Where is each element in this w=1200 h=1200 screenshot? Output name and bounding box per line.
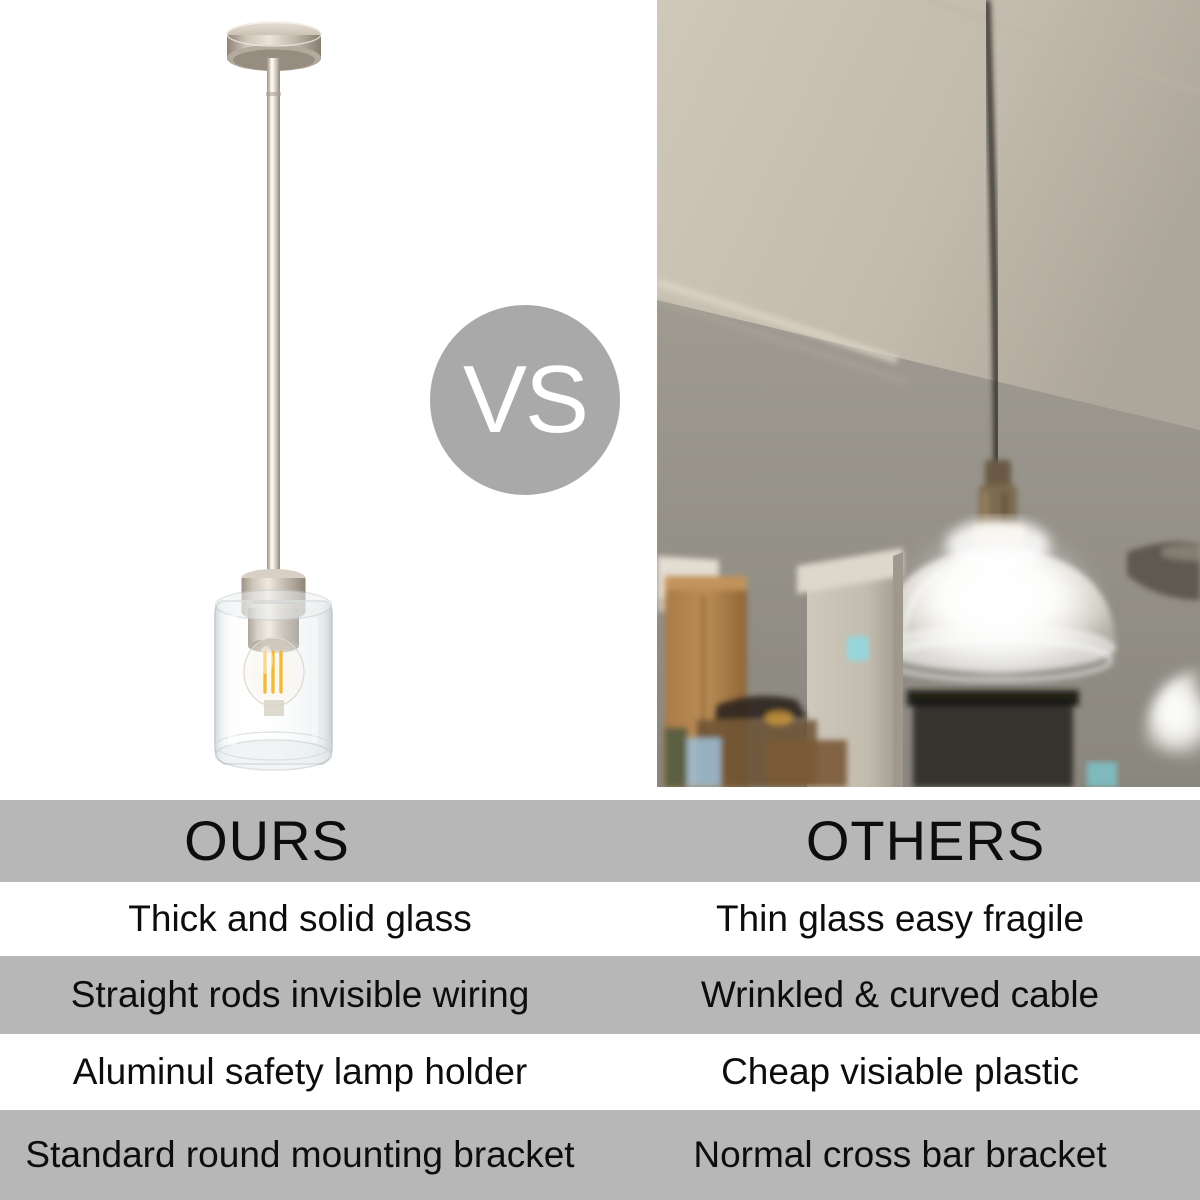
table-row: Straight rods invisible wiring Wrinkled … <box>0 956 1200 1034</box>
down-rod <box>266 58 281 578</box>
cell-ours-2: Straight rods invisible wiring <box>0 956 600 1034</box>
vs-badge: VS <box>430 305 620 495</box>
teal-light-reflection-2 <box>1087 762 1117 787</box>
cell-others-3: Cheap visiable plastic <box>600 1034 1200 1110</box>
header-ours: OURS <box>0 800 600 882</box>
product-comparison-image: VS OURS OTHERS Thick and solid glass Thi… <box>0 0 1200 1200</box>
comparison-hero: VS <box>0 0 1200 800</box>
vs-label: VS <box>463 352 587 448</box>
cell-others-4: Normal cross bar bracket <box>600 1110 1200 1200</box>
cell-ours-4: Standard round mounting bracket <box>0 1110 600 1200</box>
cell-ours-3: Aluminul safety lamp holder <box>0 1034 600 1110</box>
table-row: Aluminul safety lamp holder Cheap visiab… <box>0 1034 1200 1110</box>
teal-light-reflection <box>847 636 869 661</box>
table-header-row: OURS OTHERS <box>0 800 1200 882</box>
cell-ours-1: Thick and solid glass <box>0 882 600 956</box>
table-row: Thick and solid glass Thin glass easy fr… <box>0 882 1200 956</box>
header-others: OTHERS <box>600 800 1200 882</box>
doorway <box>907 690 1079 787</box>
cell-others-1: Thin glass easy fragile <box>600 882 1200 956</box>
others-photo-illustration <box>657 0 1200 787</box>
table-row: Standard round mounting bracket Normal c… <box>0 1110 1200 1200</box>
others-customer-photo <box>657 0 1200 787</box>
cell-others-2: Wrinkled & curved cable <box>600 956 1200 1034</box>
comparison-table: OURS OTHERS Thick and solid glass Thin g… <box>0 800 1200 1200</box>
